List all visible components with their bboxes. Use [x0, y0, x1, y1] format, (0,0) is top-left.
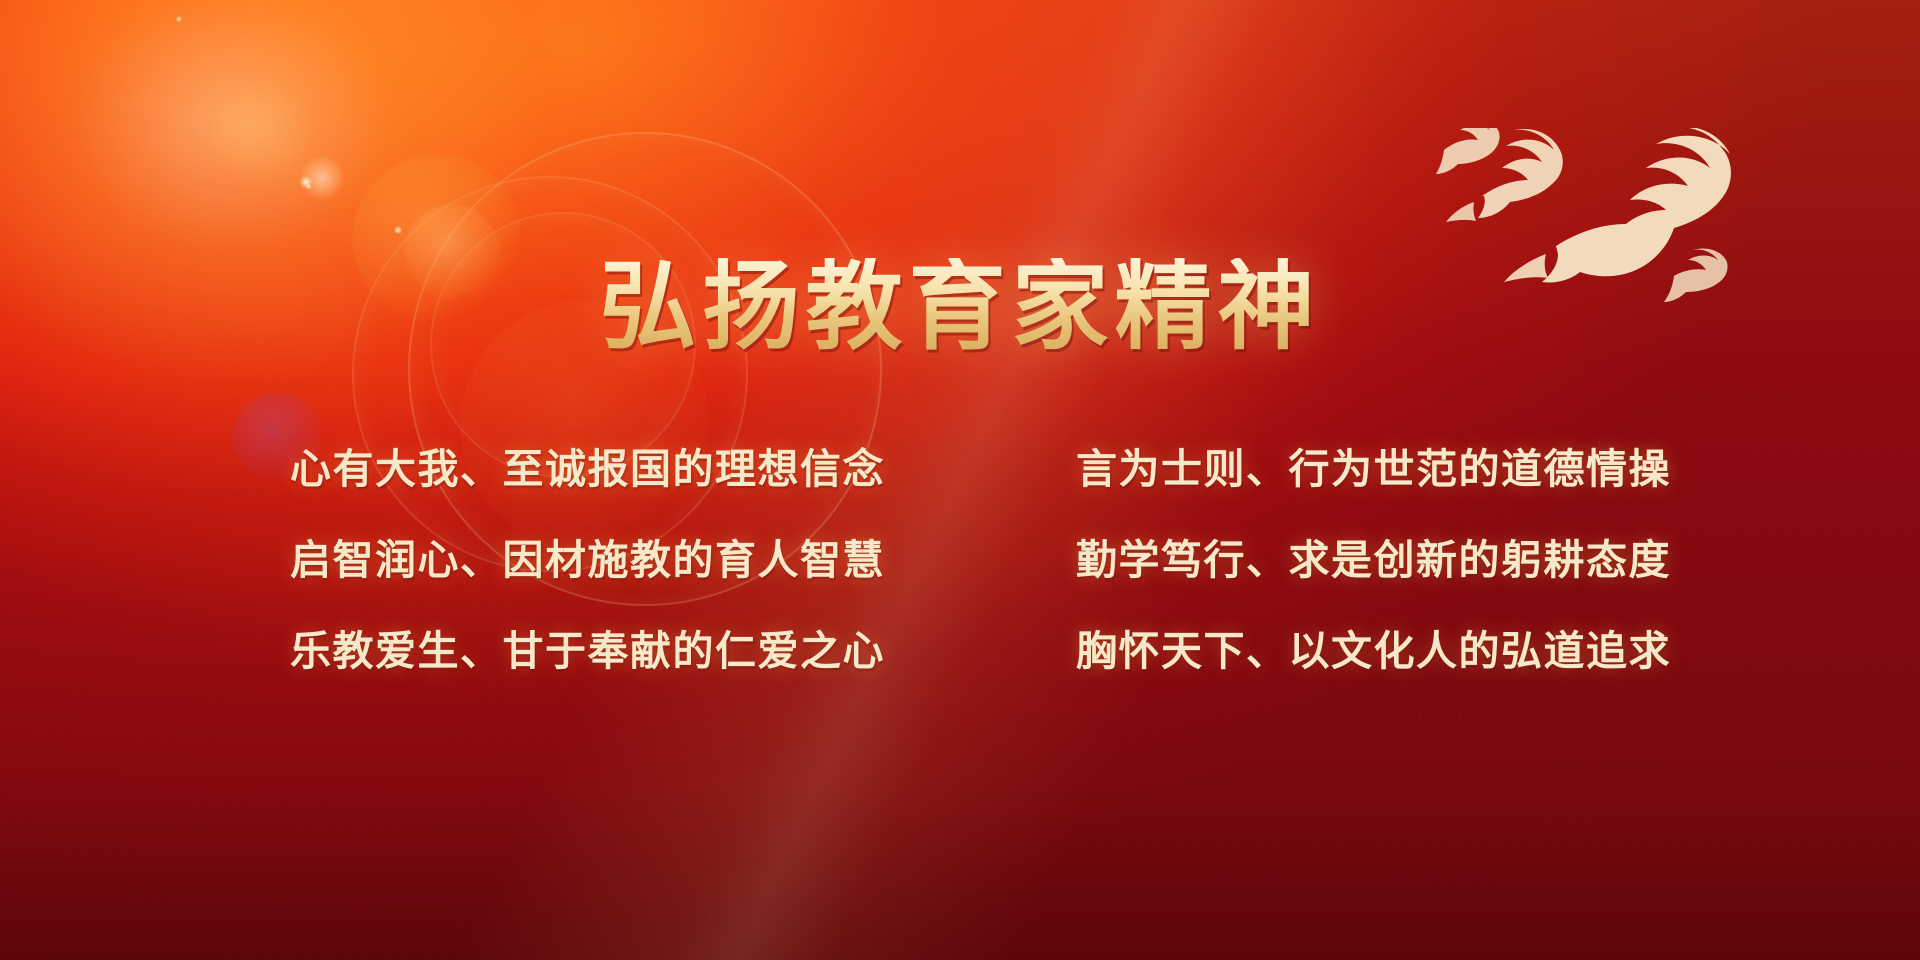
page-title: 弘扬教育家精神	[0, 258, 1920, 355]
slogan-grid: 心有大我、至诚报国的理想信念 言为士则、行为世范的道德情操 启智润心、因材施教的…	[0, 448, 1920, 673]
slogan-text: 心有大我、至诚报国的理想信念	[84, 448, 1050, 491]
slogan-text: 胸怀天下、以文化人的弘道追求	[1050, 630, 1836, 673]
slogan-text: 勤学笃行、求是创新的躬耕态度	[1050, 539, 1836, 582]
slogan-row: 心有大我、至诚报国的理想信念 言为士则、行为世范的道德情操	[0, 448, 1920, 491]
slogan-text: 言为士则、行为世范的道德情操	[1050, 448, 1836, 491]
slogan-text: 启智润心、因材施教的育人智慧	[84, 539, 1050, 582]
slogan-row: 启智润心、因材施教的育人智慧 勤学笃行、求是创新的躬耕态度	[0, 539, 1920, 582]
slogan-text: 乐教爱生、甘于奉献的仁爱之心	[84, 630, 1050, 673]
slogan-row: 乐教爱生、甘于奉献的仁爱之心 胸怀天下、以文化人的弘道追求	[0, 630, 1920, 673]
poster-banner: 弘扬教育家精神 心有大我、至诚报国的理想信念 言为士则、行为世范的道德情操 启智…	[0, 0, 1920, 960]
banner-content: 弘扬教育家精神 心有大我、至诚报国的理想信念 言为士则、行为世范的道德情操 启智…	[0, 0, 1920, 960]
